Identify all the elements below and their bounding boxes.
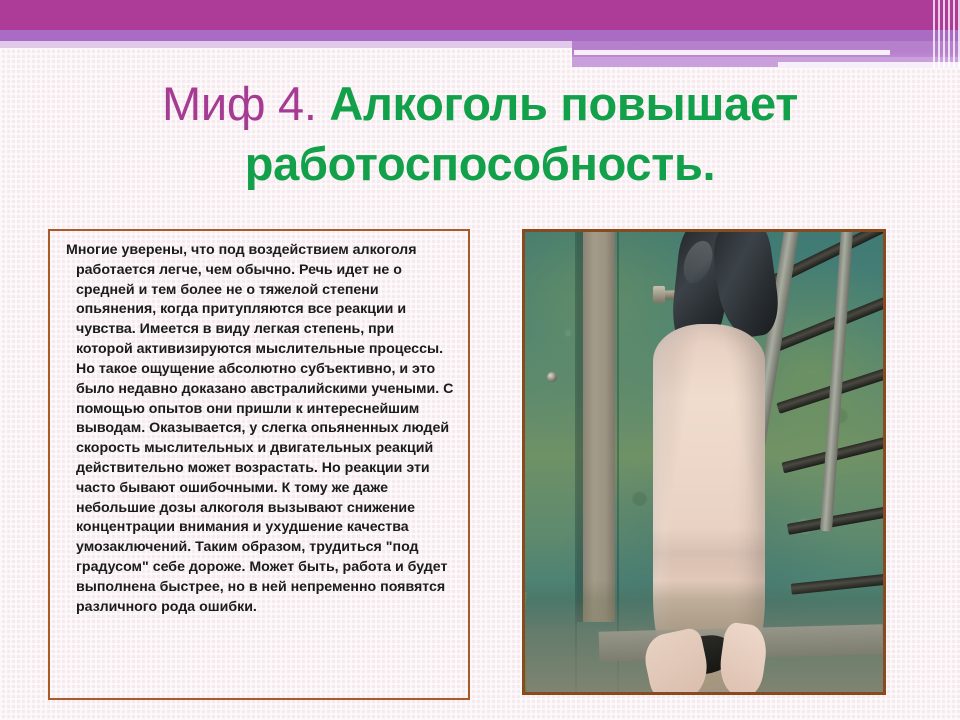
body-text-box: Многие уверены, что под воздействием алк… (48, 229, 470, 700)
title-statement: Алкоголь повышает работоспособность. (245, 77, 798, 190)
body-paragraph: Многие уверены, что под воздействием алк… (66, 241, 454, 617)
banner-white-stripe-upper (574, 50, 890, 55)
presentation-slide: Миф 4. Алкоголь повышает работоспособнос… (0, 0, 960, 720)
banner-magenta-band (0, 0, 960, 30)
photo-wall-bracket-head (653, 286, 665, 303)
photo-frame (522, 229, 886, 695)
photo-upside-down-worker (525, 232, 883, 692)
title-myth-number: Миф 4. (162, 77, 317, 130)
page-title: Миф 4. Алкоголь повышает работоспособнос… (40, 74, 920, 193)
photo-wooden-post (583, 232, 615, 622)
photo-wall-bolt (547, 372, 557, 382)
banner-purple-band (0, 30, 960, 41)
photo-grass (525, 592, 883, 692)
banner-edge-hatch (930, 0, 960, 68)
